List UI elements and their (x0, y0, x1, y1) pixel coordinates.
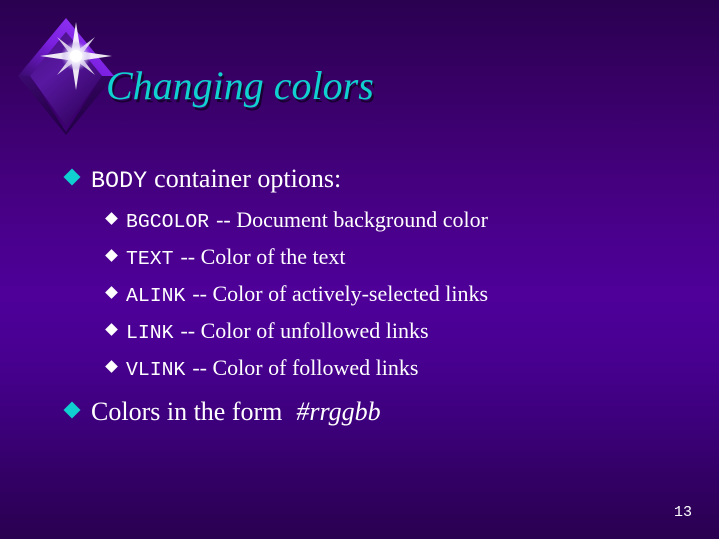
item-text: Colors in the form (91, 393, 282, 431)
list-item: BODY container options: (0, 160, 719, 201)
list-item: ALINK -- Color of actively-selected link… (0, 277, 719, 313)
bullet-diamond-icon (105, 249, 118, 262)
code-token: TEXT (126, 243, 173, 276)
page-number: 13 (674, 504, 692, 521)
list-item: TEXT -- Color of the text (0, 240, 719, 276)
item-text: -- Document background color (216, 203, 488, 236)
code-token: BODY (91, 163, 147, 201)
diamond-outer-lower (18, 76, 114, 135)
bullet-diamond-icon (105, 360, 118, 373)
list-item: BGCOLOR -- Document background color (0, 203, 719, 239)
bullet-diamond-icon (64, 402, 81, 419)
item-text: -- Color of the text (180, 240, 345, 273)
item-text: -- Color of actively-selected links (192, 277, 488, 310)
diamond-sparkle-decoration (14, 14, 118, 138)
diamond-inner (30, 32, 102, 126)
code-token: BGCOLOR (126, 206, 209, 239)
bullet-list: BODY container options: BGCOLOR -- Docum… (0, 160, 719, 433)
list-item: VLINK -- Color of followed links (0, 351, 719, 387)
list-item: LINK -- Color of unfollowed links (0, 314, 719, 350)
bullet-diamond-icon (105, 286, 118, 299)
item-text: container options: (154, 160, 341, 198)
slide: Changing colors BODY container options: … (0, 0, 719, 539)
diamond-outer-upper (18, 18, 114, 76)
list-item: Colors in the form #rrggbb (0, 393, 719, 431)
code-token: VLINK (126, 354, 185, 387)
code-token: ALINK (126, 280, 185, 313)
bullet-diamond-icon (64, 169, 81, 186)
code-token: #rrggbb (296, 393, 380, 431)
page-title: Changing colors (106, 62, 374, 110)
item-text: -- Color of followed links (192, 351, 418, 384)
bullet-diamond-icon (105, 323, 118, 336)
code-token: LINK (126, 317, 173, 350)
item-text: -- Color of unfollowed links (180, 314, 428, 347)
star-sparkle (40, 22, 112, 90)
bullet-diamond-icon (105, 212, 118, 225)
